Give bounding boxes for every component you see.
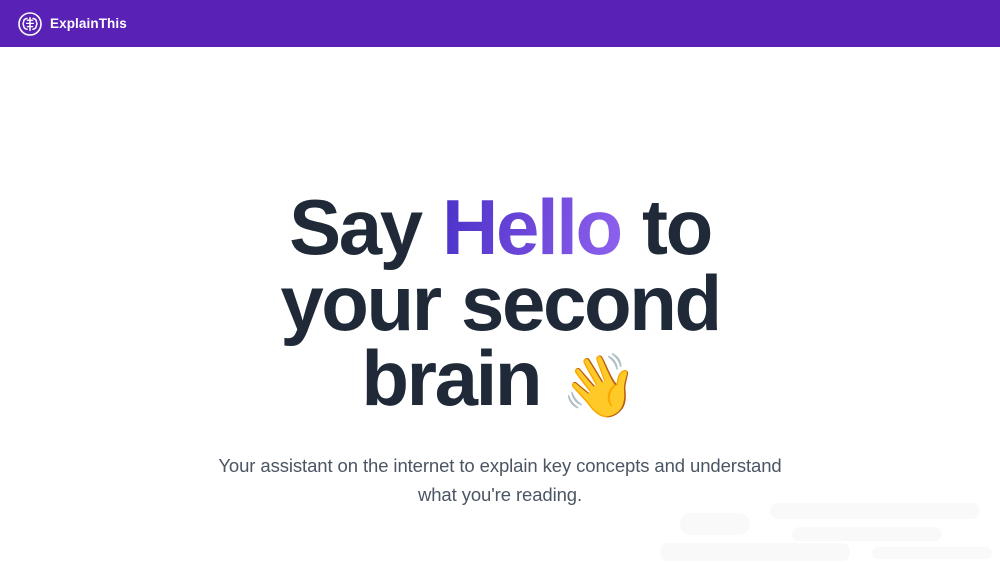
waving-hand-emoji: 👋 — [561, 352, 638, 421]
page-title: Say Hello to your second brain 👋 — [190, 190, 810, 417]
hero-section: Say Hello to your second brain 👋 Your as… — [0, 47, 1000, 563]
peek-shape — [792, 527, 942, 541]
peek-shape — [660, 543, 850, 561]
peek-shape — [770, 503, 980, 519]
title-text-brain: brain — [361, 334, 561, 422]
peek-shape — [680, 513, 750, 535]
site-header: ExplainThis — [0, 0, 1000, 47]
hero-subtitle: Your assistant on the internet to explai… — [200, 452, 800, 509]
title-line-3: brain 👋 — [361, 334, 638, 422]
brand-logo-link[interactable]: ExplainThis — [18, 12, 127, 36]
brain-icon — [18, 12, 42, 36]
brand-name: ExplainThis — [50, 17, 127, 31]
peek-shape — [872, 547, 992, 559]
